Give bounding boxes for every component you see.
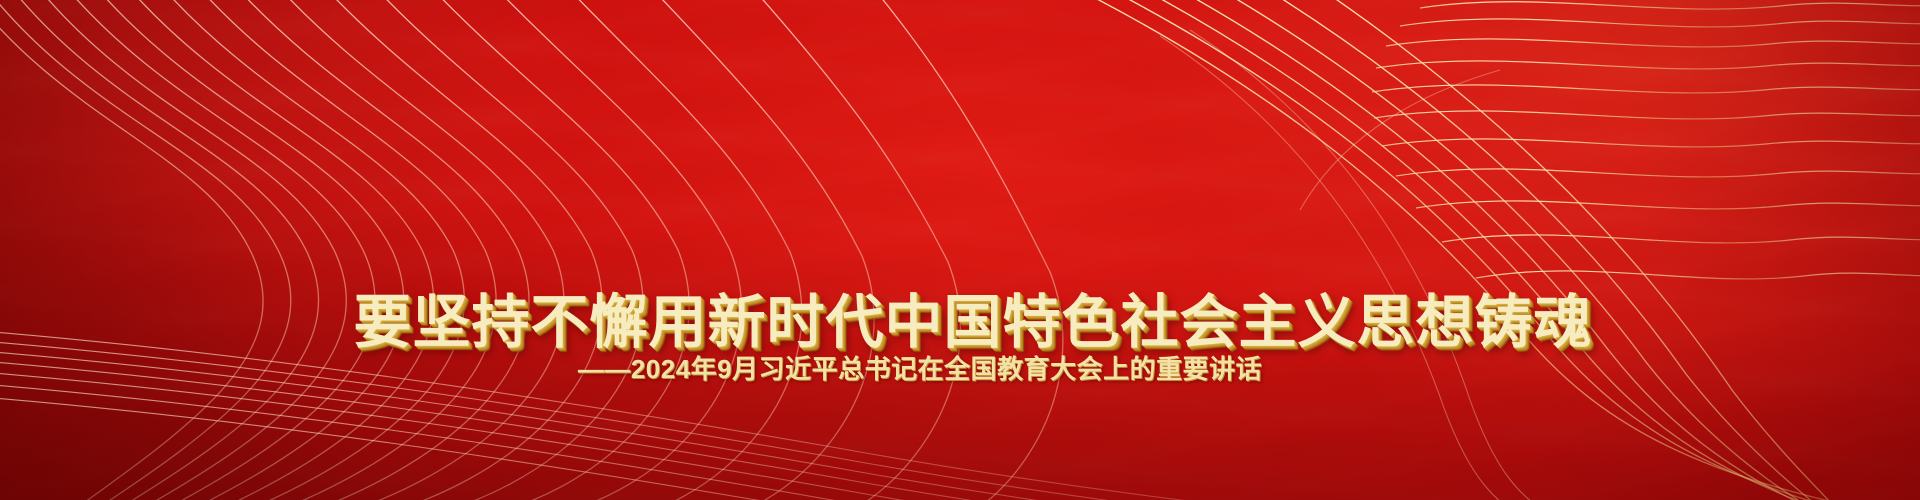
attribution-text: ——2024年9月习近平总书记在全国教育大会上的重要讲话 <box>0 352 1920 386</box>
banner-root: 要坚持不懈用新时代中国特色社会主义思想铸魂 育人，实施新时代立德树人工程。 ——… <box>0 0 1920 500</box>
headline: 要坚持不懈用新时代中国特色社会主义思想铸魂 育人，实施新时代立德树人工程。 <box>0 108 1920 500</box>
banner-content: 要坚持不懈用新时代中国特色社会主义思想铸魂 育人，实施新时代立德树人工程。 ——… <box>0 0 1920 500</box>
